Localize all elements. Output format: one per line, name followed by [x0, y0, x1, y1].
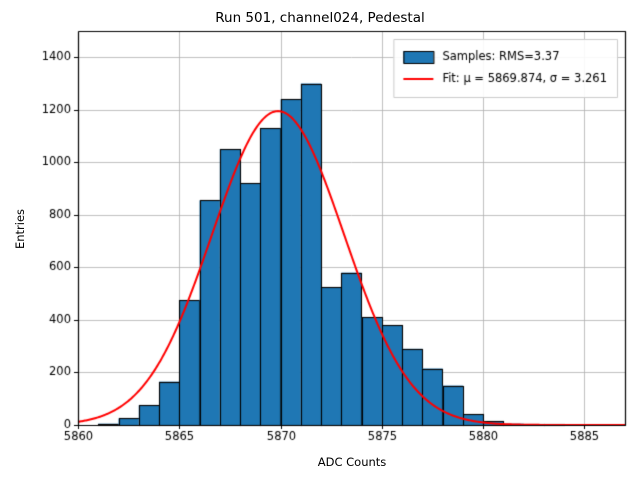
figure-canvas-container: Run 501, channel024, Pedestal Entries AD… [0, 0, 640, 480]
histogram-plot [0, 0, 640, 480]
